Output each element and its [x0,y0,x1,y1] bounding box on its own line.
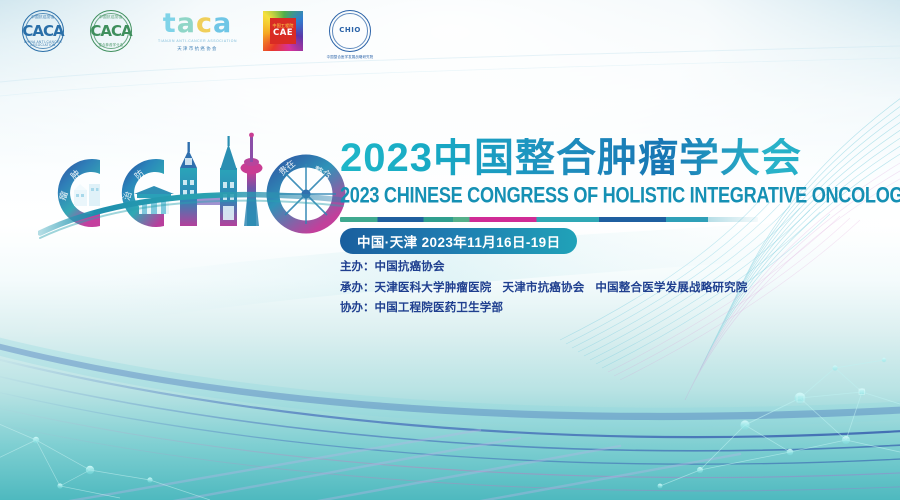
conference-banner: 中国抗癌协会 CACA CHINA ANTI-CANCER ASSOCIATIO… [0,0,900,500]
organizer-value: 天津市抗癌协会 [503,282,585,294]
date-location-badge: 中国·天津 2023年11月16日-19日 [340,228,577,254]
page-subtitle: 2023 CHINESE CONGRESS OF HOLISTIC INTEGR… [340,185,850,207]
logo-ring-text-bottom: 整合肿瘤学分会 [91,44,131,47]
taca-wordmark: taca [163,10,232,37]
logo-mark: CACA [22,24,63,39]
emblem-letter-h [180,136,237,226]
organizer-value: 中国工程院医药卫生学部 [375,302,504,314]
organizer-label: 承办： [340,282,375,294]
organizer-value: 天津医科大学肿瘤医院 [375,282,492,294]
emblem-letter-i-tv-tower [241,133,263,226]
network-pattern [658,358,900,489]
organizer-value: 中国抗癌协会 [375,261,445,273]
logo-caca-holistic-integrative-oncology: 中国抗癌协会 CACA 整合肿瘤学分会 [90,10,132,52]
woven-pinwheel-motif [748,218,898,368]
logo-ring-text-bottom: CHINA ANTI-CANCER ASSOCIATION [23,41,63,47]
logo-china-holistic-integrative-oncology-alliance: CHIO 中国整合医学发展战略研究院 [329,10,371,52]
organizer-value: 中国整合医学发展战略研究院 [595,282,747,294]
emblem-letter-c2: 防 治 [120,159,174,227]
taca-letter-a2: a [213,8,232,39]
logo-ring-text-top: 中国抗癌协会 [91,16,131,20]
taca-subtitle-cn: 天津市抗癌协会 [177,46,218,52]
cae-english-label: CAE [273,29,293,38]
cchio-logo: 肿 瘤 防 治 [38,128,348,243]
logo-caption: 中国整合医学发展战略研究院 [327,54,374,59]
network-pattern-left [0,420,210,500]
title-block: 2023中国整合肿瘤学大会 2023 CHINESE CONGRESS OF H… [340,138,860,222]
organizer-label: 协办： [340,302,375,314]
organizer-label: 主办： [340,261,375,273]
page-title: 2023中国整合肿瘤学大会 [340,138,860,180]
logo-chinese-academy-of-engineering: 中国工程院 CAE [263,11,303,51]
taca-subtitle-en: TIANJIN ANTI-CANCER ASSOCIATION [158,39,237,44]
logo-ring-text-top: 中国抗癌协会 [23,16,63,20]
taca-letter-a1: a [177,8,196,39]
logo-strip: 中国抗癌协会 CACA CHINA ANTI-CANCER ASSOCIATIO… [0,0,900,62]
title-divider [340,217,758,222]
logo-tianjin-anti-cancer-association: taca TIANJIN ANTI-CANCER ASSOCIATION 天津市… [158,9,237,53]
logo-china-anti-cancer-association: 中国抗癌协会 CACA CHINA ANTI-CANCER ASSOCIATIO… [22,10,64,52]
logo-mark: CACA [90,24,131,39]
taca-letter-t: t [163,8,177,39]
chio-glyph: CHIO [339,27,361,34]
taca-letter-c: c [196,8,213,39]
